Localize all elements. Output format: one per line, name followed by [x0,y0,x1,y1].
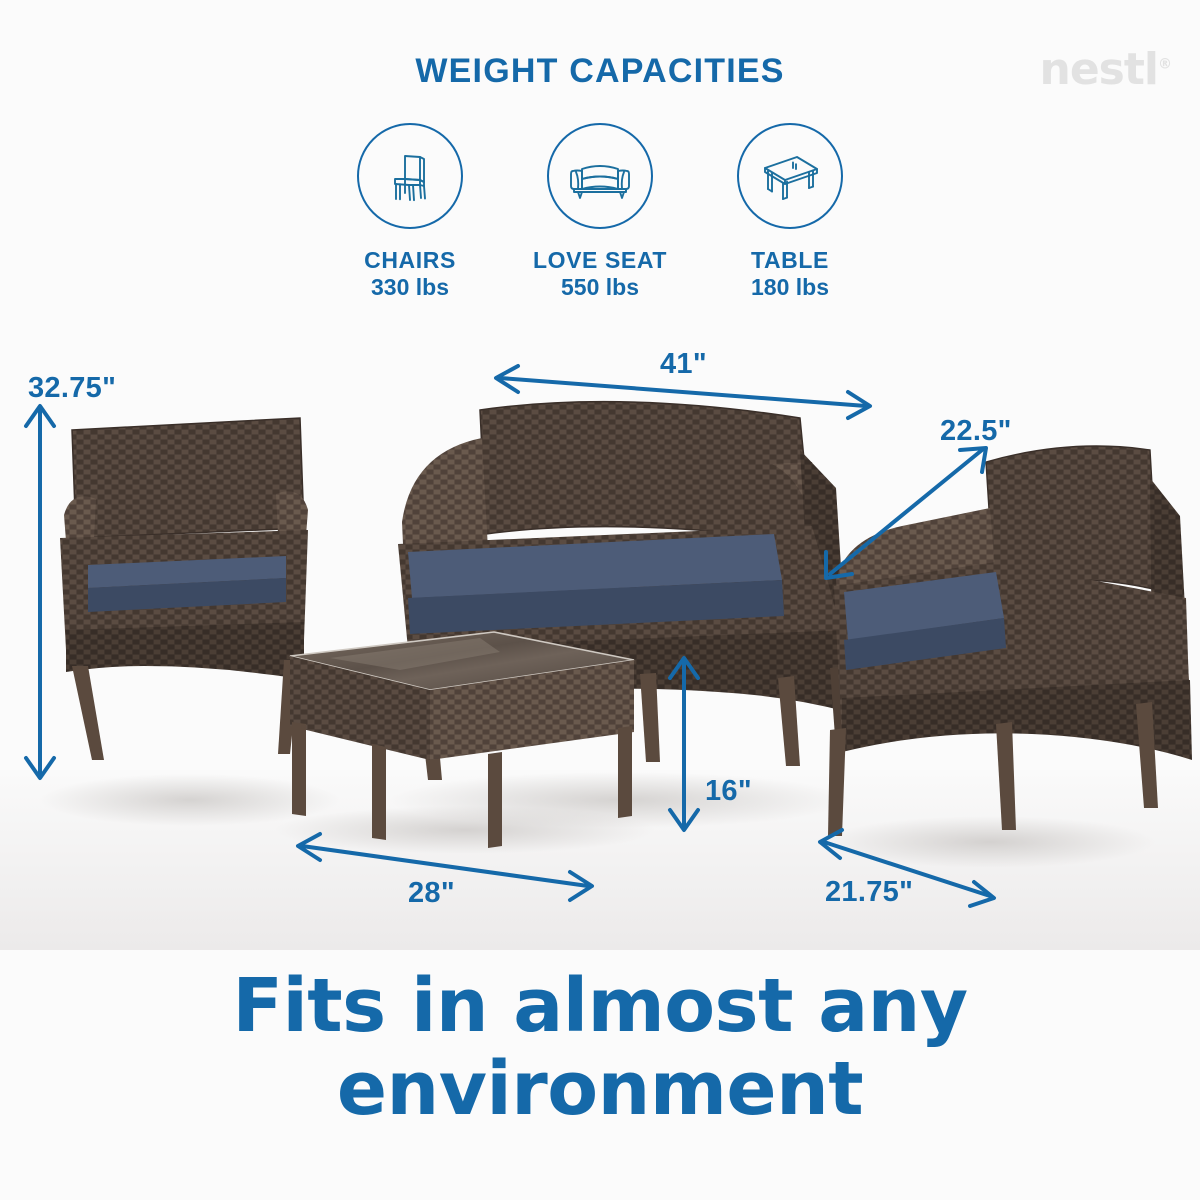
capacity-icon-circle-table [737,123,843,229]
dimension-label-table-width: 28" [408,877,455,910]
table-leg-right [618,726,632,818]
table-icon [757,145,823,207]
left-chair-arm-left [64,496,96,541]
left-chair [60,418,308,760]
arrow-chair-height [26,406,54,778]
capacity-icon-circle-love-seat [547,123,653,229]
table-leg-left [292,722,306,816]
capacity-item-chairs: CHAIRS 330 lbs [330,123,490,301]
left-chair-skirt [66,622,304,680]
loveseat-backrest [480,402,812,542]
capacity-item-love-seat: LOVE SEAT 550 lbs [520,123,680,301]
infographic-canvas: nestl® WEIGHT CAPACITIES [0,0,1200,1200]
dimension-label-loveseat-depth: 22.5" [940,415,1012,448]
shadow-table [275,806,655,854]
chair-icon [379,145,441,207]
loveseat-icon [565,145,635,207]
left-chair-backrest [72,418,304,538]
headline-line-2: environment [0,1048,1200,1131]
capacity-label-chairs: CHAIRS [330,247,490,274]
capacity-icon-circle-chairs [357,123,463,229]
left-chair-leg-front-left [72,666,104,760]
capacity-label-table: TABLE [710,247,870,274]
capacity-item-table: TABLE 180 lbs [710,123,870,301]
capacity-label-love-seat: LOVE SEAT [520,247,680,274]
weight-capacities-row: CHAIRS 330 lbs [330,123,870,301]
weight-capacities-title: WEIGHT CAPACITIES [0,52,1200,91]
table-leg-front [372,744,386,840]
dimension-label-table-height: 16" [705,775,752,808]
dimension-label-chair-height: 32.75" [28,372,116,405]
product-photo-scene [0,330,1200,950]
dimension-label-chair-width: 21.75" [825,876,913,909]
dimension-label-loveseat-width: 41" [660,348,707,381]
table-leg-center-front [488,752,502,848]
capacity-value-chairs: 330 lbs [330,274,490,301]
headline: Fits in almost any environment [0,965,1200,1131]
capacity-value-table: 180 lbs [710,274,870,301]
capacity-value-love-seat: 550 lbs [520,274,680,301]
headline-line-1: Fits in almost any [0,965,1200,1048]
